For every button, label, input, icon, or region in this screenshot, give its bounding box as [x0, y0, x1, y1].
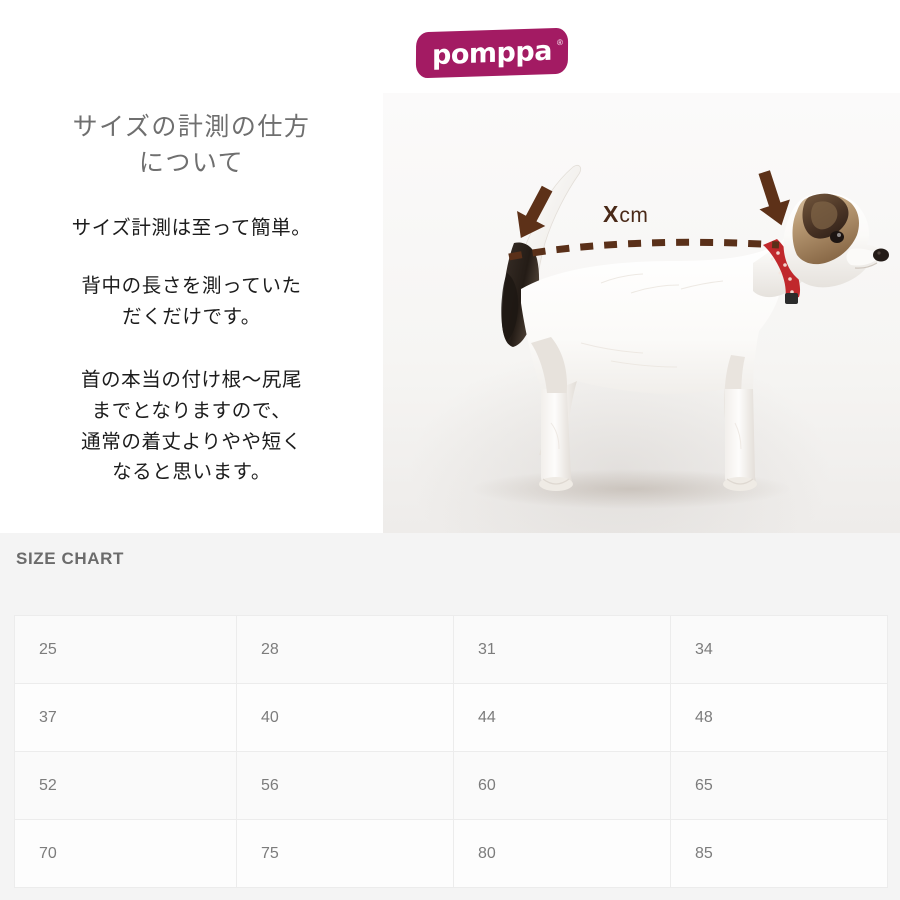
- table-cell: 48: [671, 684, 888, 752]
- table-cell: 37: [15, 684, 237, 752]
- dog-photo-panel: Xcm: [381, 93, 900, 533]
- table-cell: 31: [454, 616, 671, 684]
- instructions-paragraph-1: サイズ計測は至って簡単。: [0, 213, 383, 244]
- table-cell: 60: [454, 752, 671, 820]
- logo-registered-icon: ®: [557, 39, 563, 47]
- instructions-paragraph-2: 背中の長さを測っていた だくだけです。: [0, 271, 383, 333]
- table-cell: 44: [454, 684, 671, 752]
- dog-illustration: [381, 93, 900, 533]
- instructions-panel: サイズの計測の仕方 について サイズ計測は至って簡単。 背中の長さを測っていた …: [0, 93, 383, 533]
- logo-wordmark: pomppa: [416, 27, 568, 79]
- table-cell: 28: [237, 616, 454, 684]
- table-row: 37 40 44 48: [15, 684, 888, 752]
- table-row: 70 75 80 85: [15, 820, 888, 888]
- table-cell: 85: [671, 820, 888, 888]
- table-cell: 70: [15, 820, 237, 888]
- table-cell: 80: [454, 820, 671, 888]
- table-row: 25 28 31 34: [15, 616, 888, 684]
- hero-section: Xcm pomppa ® サイズの計測の仕方 について サイズ計測は至って簡単。…: [0, 0, 900, 533]
- table-cell: 40: [237, 684, 454, 752]
- table-cell: 25: [15, 616, 237, 684]
- table-row: 52 56 60 65: [15, 752, 888, 820]
- instructions-paragraph-3: 首の本当の付け根〜尻尾 までとなりますので、 通常の着丈よりやや短く なると思い…: [0, 365, 383, 488]
- table-cell: 56: [237, 752, 454, 820]
- size-chart-section: SIZE CHART 25 28 31 34 37 40 44 48 52 56…: [0, 533, 900, 900]
- table-cell: 34: [671, 616, 888, 684]
- table-cell: 65: [671, 752, 888, 820]
- table-cell: 75: [237, 820, 454, 888]
- size-chart-body: 25 28 31 34 37 40 44 48 52 56 60 65 70 7…: [15, 616, 888, 888]
- instructions-heading: サイズの計測の仕方 について: [0, 109, 383, 182]
- size-chart-title: SIZE CHART: [16, 549, 124, 569]
- pomppa-logo: pomppa ®: [416, 26, 572, 82]
- table-cell: 52: [15, 752, 237, 820]
- size-chart-table: 25 28 31 34 37 40 44 48 52 56 60 65 70 7…: [14, 615, 888, 888]
